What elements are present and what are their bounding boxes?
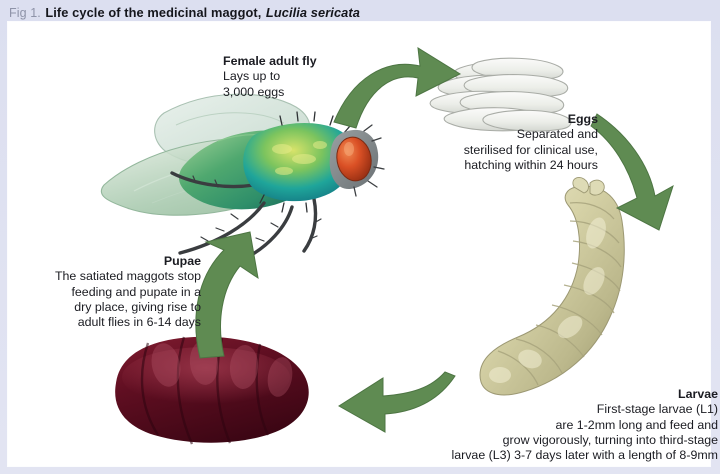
arrow-eggs-to-larva [593, 112, 713, 232]
figure-species-name: Lucilia sericata [266, 5, 360, 20]
label-line: 3,000 eggs [223, 85, 284, 99]
label-line: grow vigorously, turning into third-stag… [503, 433, 718, 447]
label-line: adult flies in 6-14 days [78, 315, 201, 329]
label-line: First-stage larvae (L1) [597, 402, 718, 416]
label-line: Separated and [517, 127, 598, 141]
label-heading: Female adult fly [223, 54, 373, 69]
figure-panel: Female adult fly Lays up to 3,000 eggs E… [8, 22, 710, 466]
label-heading: Pupae [16, 254, 201, 269]
label-heading: Eggs [406, 112, 598, 127]
label-eggs: Eggs Separated and sterilised for clinic… [406, 112, 598, 173]
label-line: dry place, giving rise to [74, 300, 201, 314]
label-female-adult-fly: Female adult fly Lays up to 3,000 eggs [223, 54, 373, 100]
life-cycle-figure: Fig 1. Life cycle of the medicinal maggo… [0, 0, 720, 474]
label-line: Lays up to [223, 69, 280, 83]
label-line: hatching within 24 hours [464, 158, 598, 172]
label-line: are 1-2mm long and feed and [555, 418, 718, 432]
label-line: feeding and pupate in a [71, 285, 201, 299]
label-larvae: Larvae First-stage larvae (L1) are 1-2mm… [408, 387, 718, 463]
figure-title: Life cycle of the medicinal maggot, [45, 5, 261, 20]
label-line: The satiated maggots stop [55, 269, 201, 283]
label-line: sterilised for clinical use, [464, 143, 598, 157]
label-heading: Larvae [408, 387, 718, 402]
label-pupae: Pupae The satiated maggots stop feeding … [16, 254, 201, 330]
figure-number: Fig 1. [9, 6, 41, 20]
figure-caption: Fig 1. Life cycle of the medicinal maggo… [9, 4, 709, 22]
label-line: larvae (L3) 3-7 days later with a length… [451, 448, 718, 462]
